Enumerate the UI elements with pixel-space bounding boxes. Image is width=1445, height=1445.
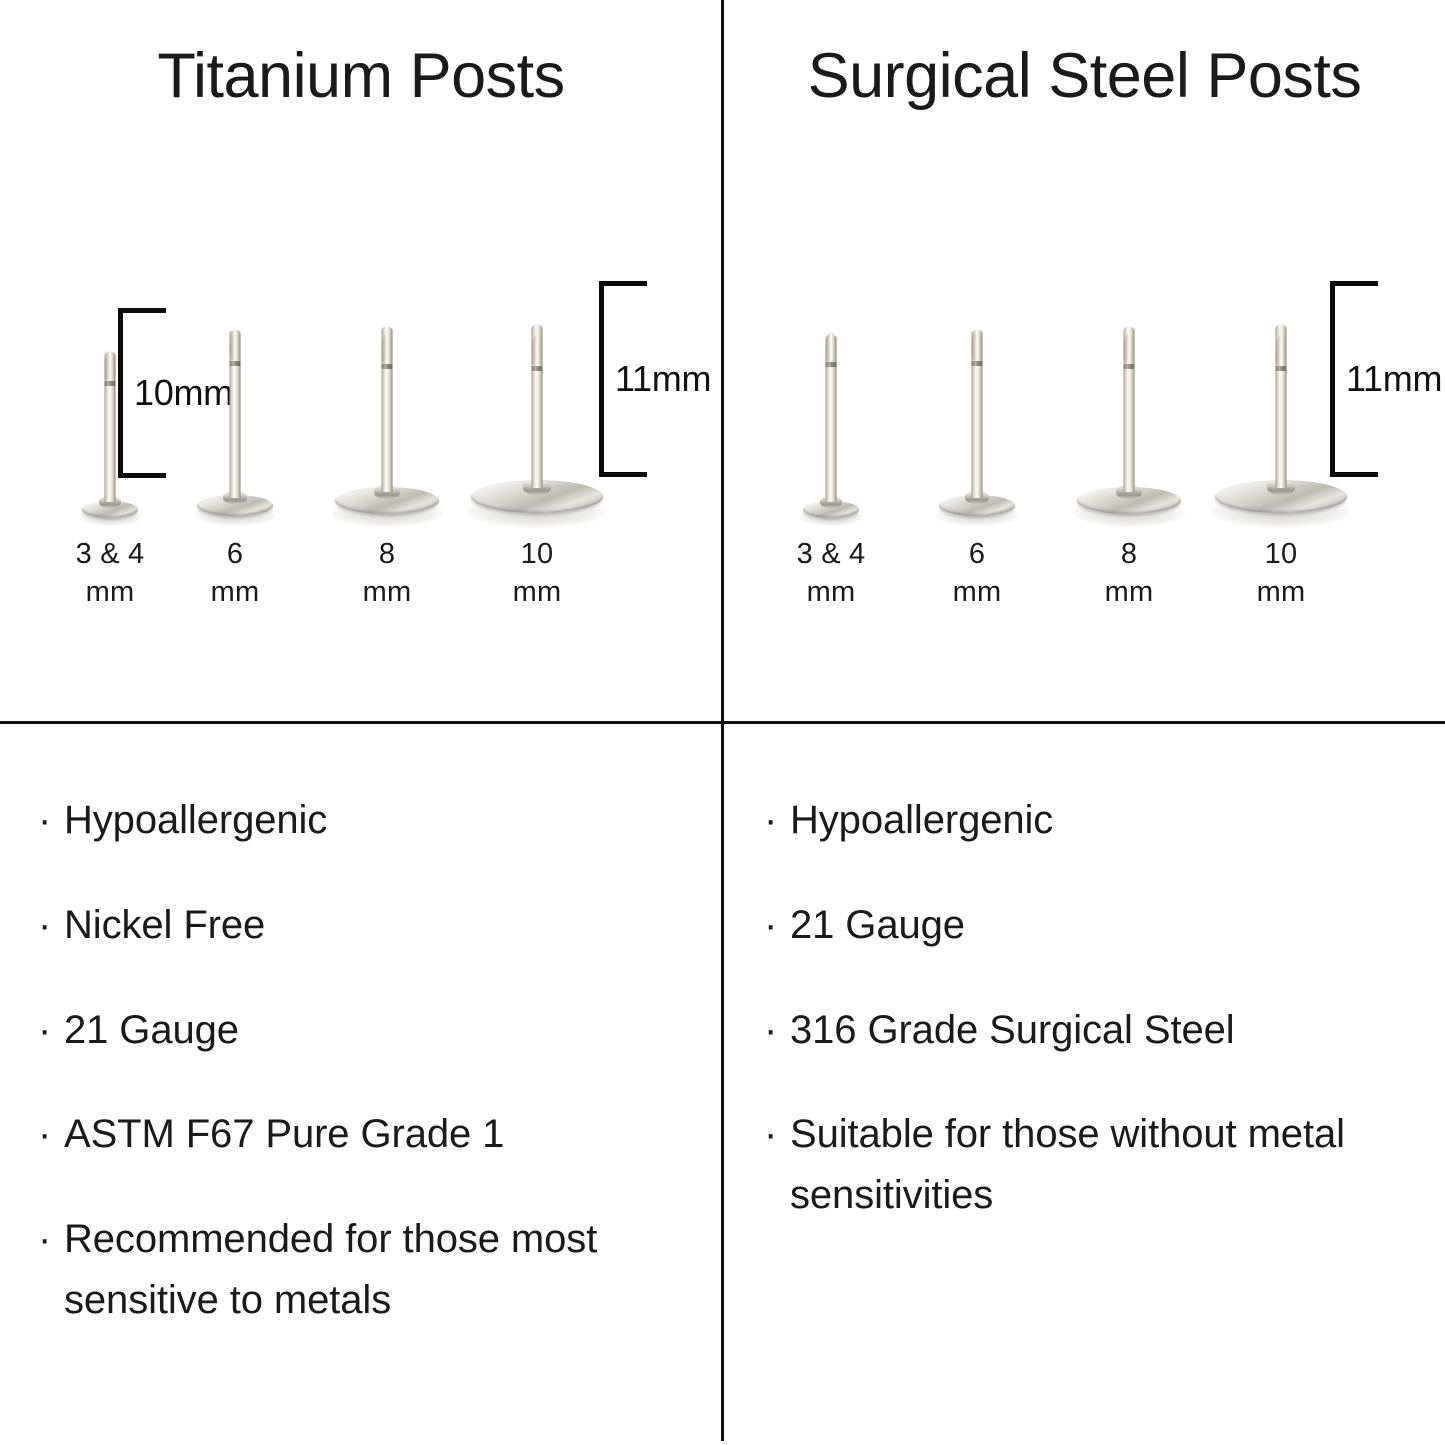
post-pin-tip	[230, 330, 241, 361]
feature-text: ASTM F67 Pure Grade 1	[64, 1104, 624, 1165]
bracket-cap-top	[1330, 281, 1378, 286]
bracket-stem	[1330, 281, 1335, 477]
bracket-stem	[118, 308, 123, 478]
size-value: 10	[1265, 538, 1298, 570]
bracket-cap-top	[118, 308, 166, 313]
specimen-steel-6mm	[902, 270, 1052, 520]
feature-text: Hypoallergenic	[64, 790, 624, 851]
bracket-cap-bottom	[1330, 472, 1378, 477]
post-pin-notch	[382, 364, 393, 369]
post-pin-notch	[1124, 364, 1135, 369]
feature-list-titanium: · Hypoallergenic · Nickel Free · 21 Gaug…	[0, 724, 721, 1445]
list-item: · Hypoallergenic	[764, 790, 1445, 851]
size-caption-6mm: 6 mm	[160, 535, 310, 612]
feature-text: 21 Gauge	[790, 895, 1350, 956]
list-item: · ASTM F67 Pure Grade 1	[38, 1104, 721, 1165]
bullet-icon: ·	[38, 1209, 64, 1270]
post-pin-tip	[826, 332, 837, 362]
measure-bracket-11mm: 11mm	[1330, 281, 1378, 477]
size-value: 8	[379, 538, 395, 570]
bullet-icon: ·	[38, 1000, 64, 1061]
bullet-icon: ·	[38, 895, 64, 956]
feature-list-surgical-steel: · Hypoallergenic · 21 Gauge · 316 Grade …	[724, 724, 1445, 1445]
list-item: · 21 Gauge	[38, 1000, 721, 1061]
post-pin-notch	[532, 366, 543, 371]
bracket-cap-top	[599, 281, 647, 286]
feature-text: Hypoallergenic	[790, 790, 1350, 851]
feature-text: Recommended for those most sensitive to …	[64, 1209, 624, 1331]
size-unit: mm	[1206, 573, 1356, 611]
bullet-icon: ·	[38, 790, 64, 851]
size-unit: mm	[902, 573, 1052, 611]
feature-text: Suitable for those without metal sensiti…	[790, 1104, 1350, 1226]
post-pin-notch	[230, 361, 241, 366]
measure-bracket-11mm: 11mm	[599, 281, 647, 477]
size-unit: mm	[1054, 573, 1204, 611]
bracket-cap-bottom	[599, 472, 647, 477]
specimen-titanium-8mm	[312, 270, 462, 520]
bracket-stem	[599, 281, 604, 477]
post-pin-tip	[382, 333, 393, 364]
measure-label-11mm: 11mm	[615, 358, 711, 400]
post-pin-notch	[826, 362, 837, 367]
specimen-titanium-6mm	[160, 270, 310, 520]
size-value: 3 & 4	[76, 538, 145, 570]
size-unit: mm	[462, 573, 612, 611]
size-caption-6mm: 6 mm	[902, 535, 1052, 612]
size-value: 6	[227, 538, 243, 570]
size-value: 10	[521, 538, 554, 570]
list-item: · Suitable for those without metal sensi…	[764, 1104, 1445, 1226]
bullet-icon: ·	[38, 1104, 64, 1165]
feature-text: 316 Grade Surgical Steel	[790, 1000, 1350, 1061]
post-pin-tip	[1276, 335, 1287, 366]
size-unit: mm	[160, 573, 310, 611]
bullet-icon: ·	[764, 895, 790, 956]
comparison-infographic: Titanium Posts 10mm	[0, 0, 1445, 1445]
list-item: · 21 Gauge	[764, 895, 1445, 956]
bullet-icon: ·	[764, 1104, 790, 1165]
measure-bracket-10mm: 10mm	[118, 308, 166, 478]
post-pin-tip	[1124, 333, 1135, 364]
panel-titanium: Titanium Posts 10mm	[0, 0, 722, 721]
size-caption-8mm: 8 mm	[312, 535, 462, 612]
panel-surgical-steel: Surgical Steel Posts	[724, 0, 1445, 721]
bullet-icon: ·	[764, 1000, 790, 1061]
post-pin-tip	[972, 330, 983, 361]
size-caption-8mm: 8 mm	[1054, 535, 1204, 612]
measure-label-11mm: 11mm	[1346, 358, 1442, 400]
page-title-surgical-steel: Surgical Steel Posts	[724, 40, 1445, 112]
list-item: · Hypoallergenic	[38, 790, 721, 851]
specimen-row-titanium: 10mm	[0, 270, 722, 520]
post-pin-notch	[1276, 366, 1287, 371]
size-value: 6	[969, 538, 985, 570]
size-value: 8	[1121, 538, 1137, 570]
page-title-titanium: Titanium Posts	[0, 40, 722, 112]
list-item: · 316 Grade Surgical Steel	[764, 1000, 1445, 1061]
size-caption-10mm: 10 mm	[1206, 535, 1356, 612]
size-unit: mm	[312, 573, 462, 611]
specimen-steel-3-4mm	[756, 270, 906, 520]
feature-text: Nickel Free	[64, 895, 624, 956]
post-pin-notch	[972, 361, 983, 366]
list-item: · Nickel Free	[38, 895, 721, 956]
bullet-icon: ·	[764, 790, 790, 851]
specimen-steel-8mm	[1054, 270, 1204, 520]
size-value: 3 & 4	[797, 538, 866, 570]
specimen-row-surgical-steel: 11mm	[724, 270, 1445, 520]
bracket-cap-bottom	[118, 473, 166, 478]
post-pin-tip	[105, 351, 116, 381]
size-caption-3-4mm: 3 & 4 mm	[756, 535, 906, 612]
list-item: · Recommended for those most sensitive t…	[38, 1209, 721, 1331]
post-pin-notch	[105, 381, 116, 386]
feature-text: 21 Gauge	[64, 1000, 624, 1061]
post-pin-tip	[532, 335, 543, 366]
size-caption-10mm: 10 mm	[462, 535, 612, 612]
size-unit: mm	[756, 573, 906, 611]
specimen-titanium-10mm	[462, 270, 612, 520]
